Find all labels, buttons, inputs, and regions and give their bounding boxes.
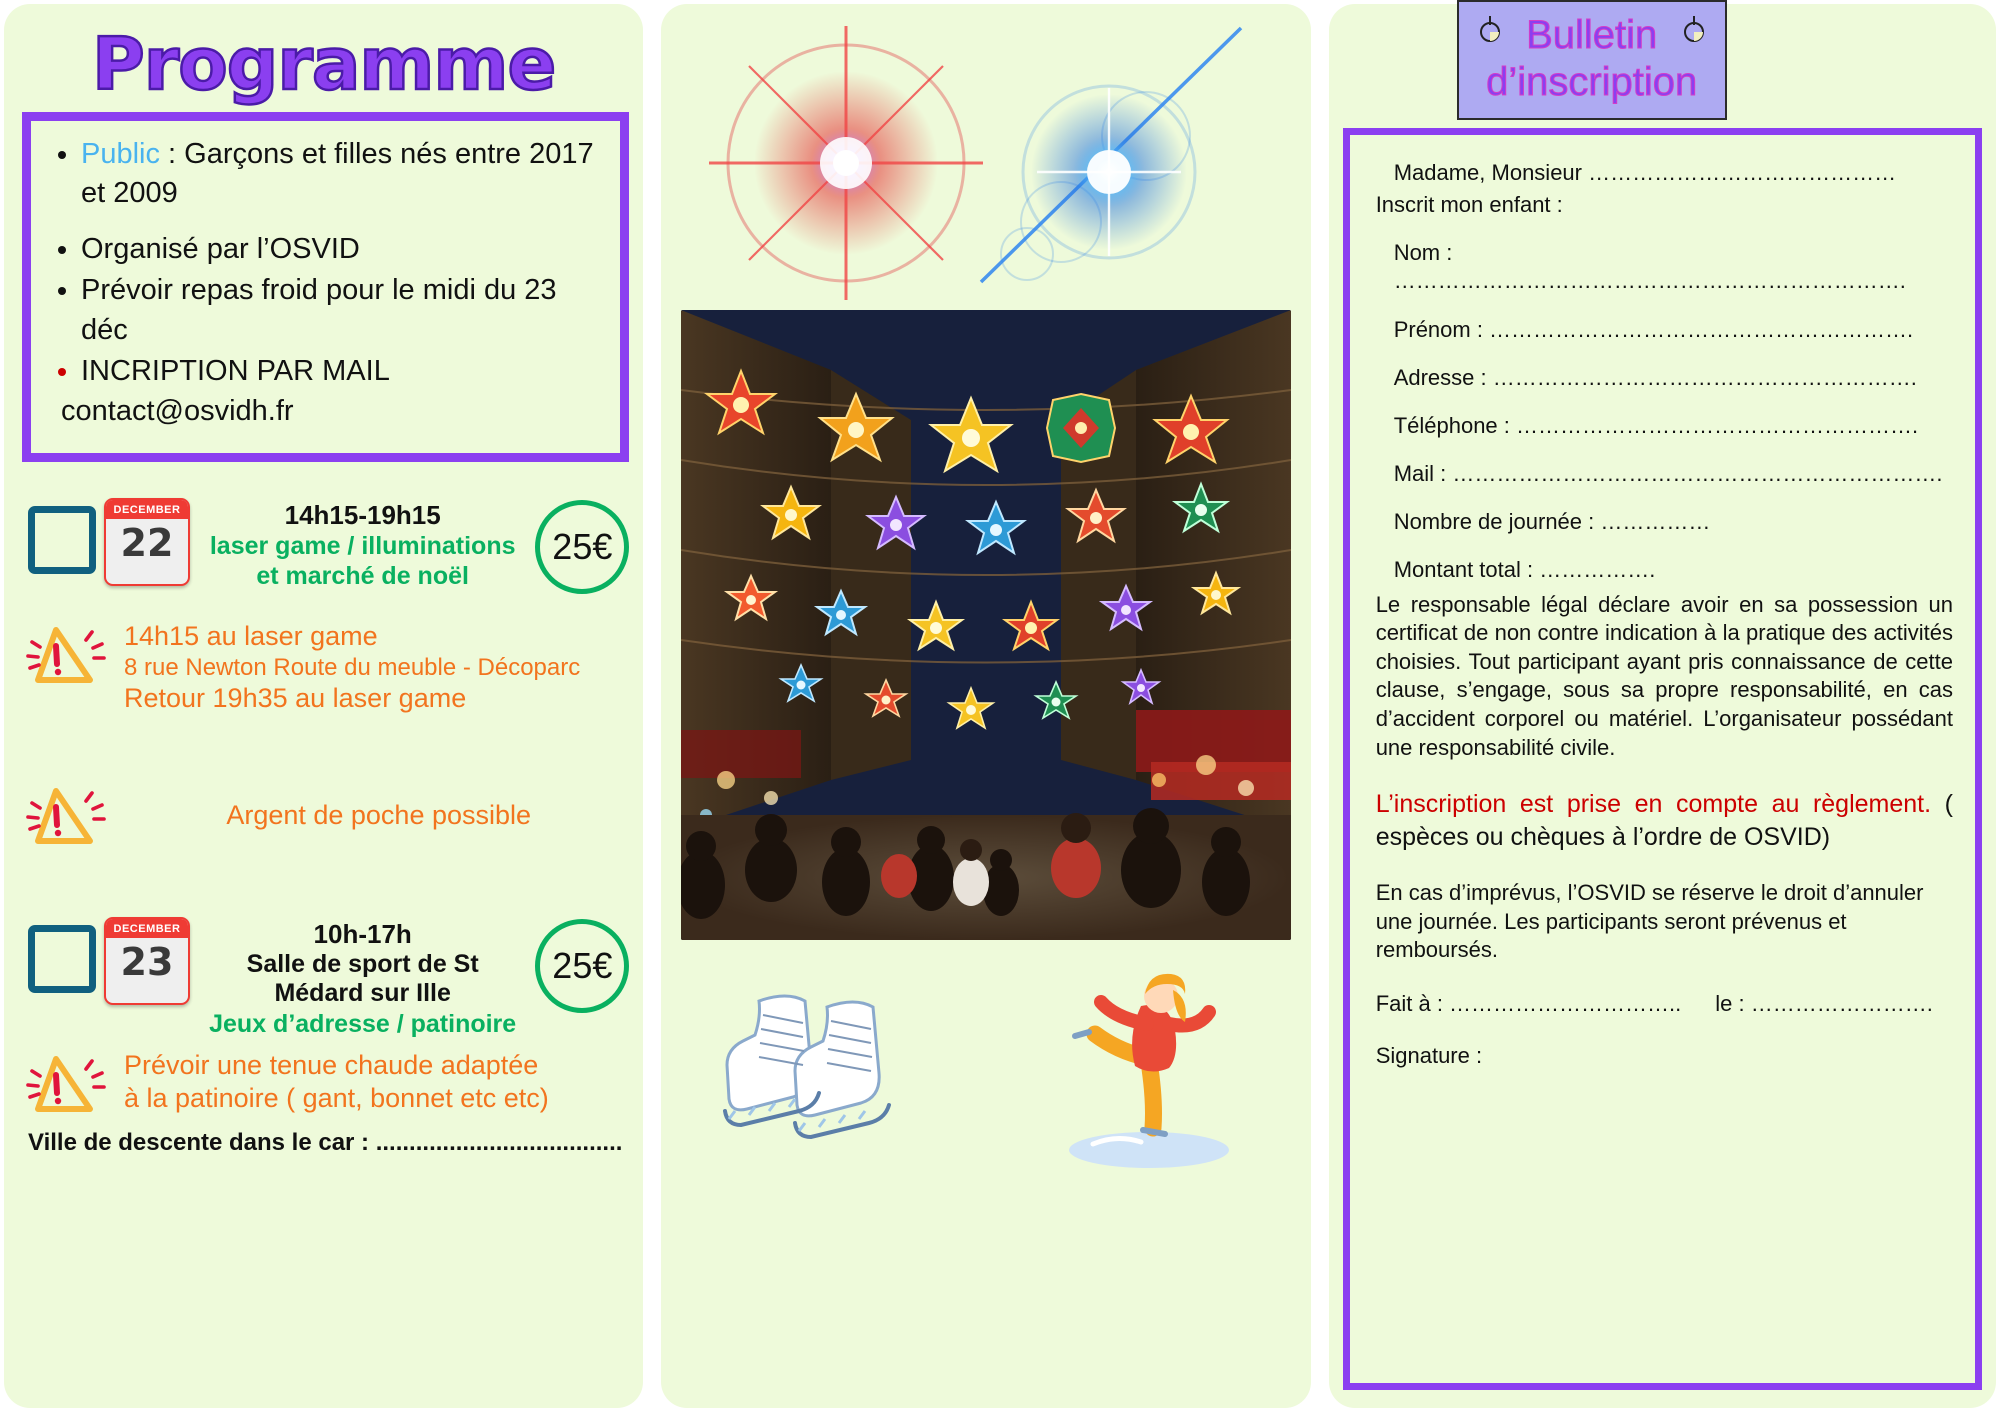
- schedule-row: DECEMBER 22 14h15-19h15 laser game / ill…: [28, 492, 629, 594]
- field-le[interactable]: le : …………………….: [1715, 991, 1933, 1016]
- warning-line-1: Prévoir une tenue chaude adaptée: [124, 1049, 549, 1082]
- contact-email[interactable]: contact@osvidh.fr: [61, 392, 604, 431]
- warning-text-money: Argent de poche possible: [124, 799, 633, 832]
- schedule-place-line2: Médard sur Ille: [198, 979, 527, 1009]
- pin-icon: [1681, 16, 1707, 42]
- programme-box: Public : Garçons et filles nés entre 201…: [22, 112, 629, 462]
- calendar-icon-23: DECEMBER 23: [104, 917, 190, 1005]
- lens-flare-area: [661, 4, 1310, 304]
- schedule-text-23: 10h-17h Salle de sport de St Médard sur …: [198, 911, 527, 1039]
- ville-descente-field[interactable]: Ville de descente dans le car : ........…: [4, 1129, 643, 1157]
- programme-bullet-list: Public : Garçons et filles nés entre 201…: [47, 135, 604, 431]
- street-lights-illustration: [681, 310, 1291, 940]
- skating-graphics-row: [661, 966, 1310, 1176]
- warning-text-laser: 14h15 au laser game 8 rue Newton Route d…: [124, 616, 580, 715]
- schedule-block-23: DECEMBER 23 10h-17h Salle de sport de St…: [4, 911, 643, 1039]
- calendar-month-label: DECEMBER: [106, 500, 188, 519]
- warning-triangle-icon: [26, 1045, 112, 1121]
- schedule-time: 10h-17h: [198, 919, 527, 950]
- pin-icon: [1477, 16, 1503, 42]
- schedule-place-line1: Salle de sport de St: [198, 950, 527, 980]
- schedule-block-22: DECEMBER 22 14h15-19h15 laser game / ill…: [4, 492, 643, 594]
- field-adresse[interactable]: Adresse : ………………………………………………….: [1376, 364, 1953, 392]
- warning-line-1: 14h15 au laser game: [124, 620, 580, 653]
- schedule-activity-line1: laser game / illuminations: [198, 531, 527, 561]
- warning-line-3: Retour 19h35 au laser game: [124, 682, 580, 715]
- calendar-day-label: 22: [106, 519, 188, 567]
- registration-form: Madame, Monsieur …………………………………… Inscrit …: [1343, 128, 1982, 1390]
- calendar-icon-22: DECEMBER 22: [104, 498, 190, 586]
- field-fait-a[interactable]: Fait à : …………………………..: [1376, 991, 1682, 1016]
- bulletin-title-line2: d’inscription: [1465, 59, 1719, 106]
- price-badge-23: 25€: [535, 919, 629, 1013]
- bulletin-tab: Bulletin d’inscription: [1457, 0, 1727, 120]
- field-telephone[interactable]: Téléphone : ……………………………………………….: [1376, 412, 1953, 440]
- warning-triangle-icon: [26, 616, 112, 692]
- cancellation-note: En cas d’imprévus, l’OSVID se réserve le…: [1376, 879, 1953, 965]
- christmas-street-lights-photo: [681, 310, 1291, 940]
- schedule-activity-line1: Jeux d’adresse / patinoire: [198, 1009, 527, 1039]
- calendar-day-label: 23: [106, 938, 188, 986]
- blue-lens-flare-icon: [941, 14, 1271, 314]
- schedule-row: DECEMBER 23 10h-17h Salle de sport de St…: [28, 911, 629, 1039]
- warning-text-clothing: Prévoir une tenue chaude adaptée à la pa…: [124, 1045, 549, 1115]
- warning-block-money: Argent de poche possible: [4, 777, 643, 853]
- list-item-inscription: INCRIPTION PAR MAILcontact@osvidh.fr: [81, 352, 604, 431]
- flyer-page: Programme Public : Garçons et filles nés…: [0, 0, 2000, 1414]
- page-title: Programme: [4, 22, 643, 106]
- field-montant-total[interactable]: Montant total : …………….: [1376, 556, 1953, 584]
- figure-skater-illustration: [1023, 966, 1273, 1176]
- form-salutation[interactable]: Madame, Monsieur ……………………………………: [1376, 159, 1953, 187]
- legal-text: Le responsable légal déclare avoir en sa…: [1376, 591, 1953, 763]
- bulletin-panel: Bulletin d’inscription Madame, Monsieur …: [1329, 4, 1996, 1408]
- field-signature[interactable]: Signature :: [1376, 1043, 1953, 1069]
- images-panel: [661, 4, 1310, 1408]
- calendar-month-label: DECEMBER: [106, 919, 188, 938]
- checkbox-day-23[interactable]: [28, 925, 96, 993]
- public-label: Public: [81, 138, 160, 170]
- warning-block-laser: 14h15 au laser game 8 rue Newton Route d…: [4, 616, 643, 715]
- warning-line-2: à la patinoire ( gant, bonnet etc etc): [124, 1082, 549, 1115]
- list-item-organiser: Organisé par l’OSVID: [81, 230, 604, 269]
- inscription-text: INCRIPTION PAR MAIL: [81, 355, 390, 387]
- field-nombre-journee[interactable]: Nombre de journée : ……………: [1376, 508, 1953, 536]
- schedule-text-22: 14h15-19h15 laser game / illuminations e…: [198, 492, 527, 591]
- list-item-public: Public : Garçons et filles nés entre 201…: [81, 135, 604, 214]
- warning-triangle-icon: [26, 777, 112, 853]
- form-intro: Inscrit mon enfant :: [1376, 191, 1953, 219]
- ice-skates-illustration: [699, 971, 989, 1171]
- field-mail[interactable]: Mail : ………………………………………………………….: [1376, 460, 1953, 488]
- programme-panel: Programme Public : Garçons et filles nés…: [4, 4, 643, 1408]
- fait-a-row[interactable]: Fait à : …………………………..le : …………………….: [1376, 991, 1953, 1017]
- warning-block-clothing: Prévoir une tenue chaude adaptée à la pa…: [4, 1045, 643, 1121]
- payment-notice: L’inscription est prise en compte au règ…: [1376, 788, 1953, 853]
- list-item-meal: Prévoir repas froid pour le midi du 23 d…: [81, 271, 604, 350]
- field-prenom[interactable]: Prénom : ………………………………………………….: [1376, 316, 1953, 344]
- field-nom[interactable]: Nom : …………………………………………………………….: [1376, 239, 1953, 295]
- warning-line-2: 8 rue Newton Route du meuble - Décoparc: [124, 653, 580, 682]
- schedule-time: 14h15-19h15: [198, 500, 527, 531]
- price-badge-22: 25€: [535, 500, 629, 594]
- payment-notice-red: L’inscription est prise en compte au règ…: [1376, 790, 1931, 818]
- schedule-activity-line2: et marché de noël: [198, 561, 527, 591]
- checkbox-day-22[interactable]: [28, 506, 96, 574]
